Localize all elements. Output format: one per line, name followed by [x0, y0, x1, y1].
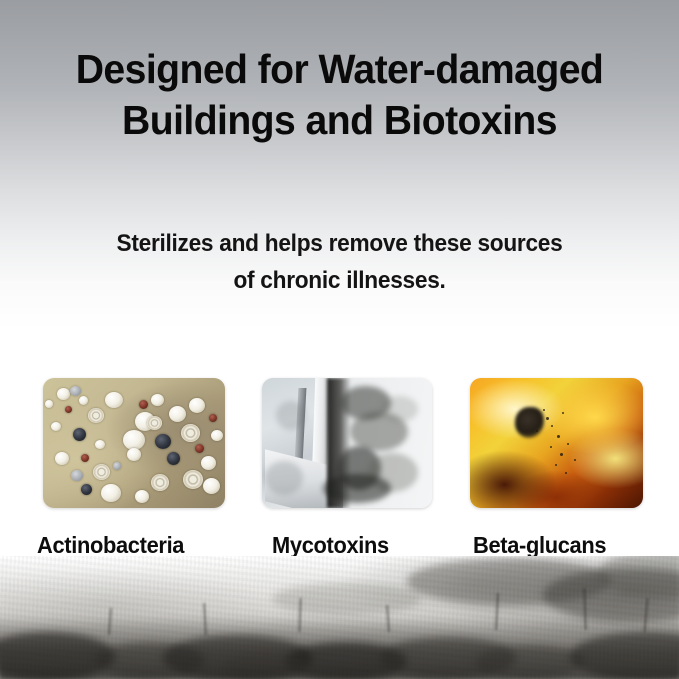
headline-line-2: Buildings and Biotoxins [15, 95, 663, 146]
feature-card-row [0, 378, 679, 510]
mouldy-window-frame-photo [262, 378, 432, 508]
product-feature-poster: Designed for Water-damaged Buildings and… [0, 0, 679, 679]
mouldy-water-damaged-wall-photo [0, 556, 679, 679]
page-subtitle: Sterilizes and helps remove these source… [19, 225, 661, 299]
subhead-line-1: Sterilizes and helps remove these source… [19, 225, 661, 262]
headline-line-1: Designed for Water-damaged [15, 44, 663, 95]
card-beta-glucans [470, 378, 643, 508]
spore-cloud-background [470, 378, 643, 508]
wall-bottom-shadow [0, 647, 679, 679]
subhead-line-2: of chronic illnesses. [19, 262, 661, 299]
card-actinobacteria [43, 378, 225, 508]
fungal-spore-cloud-photo [470, 378, 643, 508]
page-title: Designed for Water-damaged Buildings and… [15, 44, 663, 146]
petri-dish-bacterial-colonies-photo [43, 378, 225, 508]
card-mycotoxins [262, 378, 432, 508]
